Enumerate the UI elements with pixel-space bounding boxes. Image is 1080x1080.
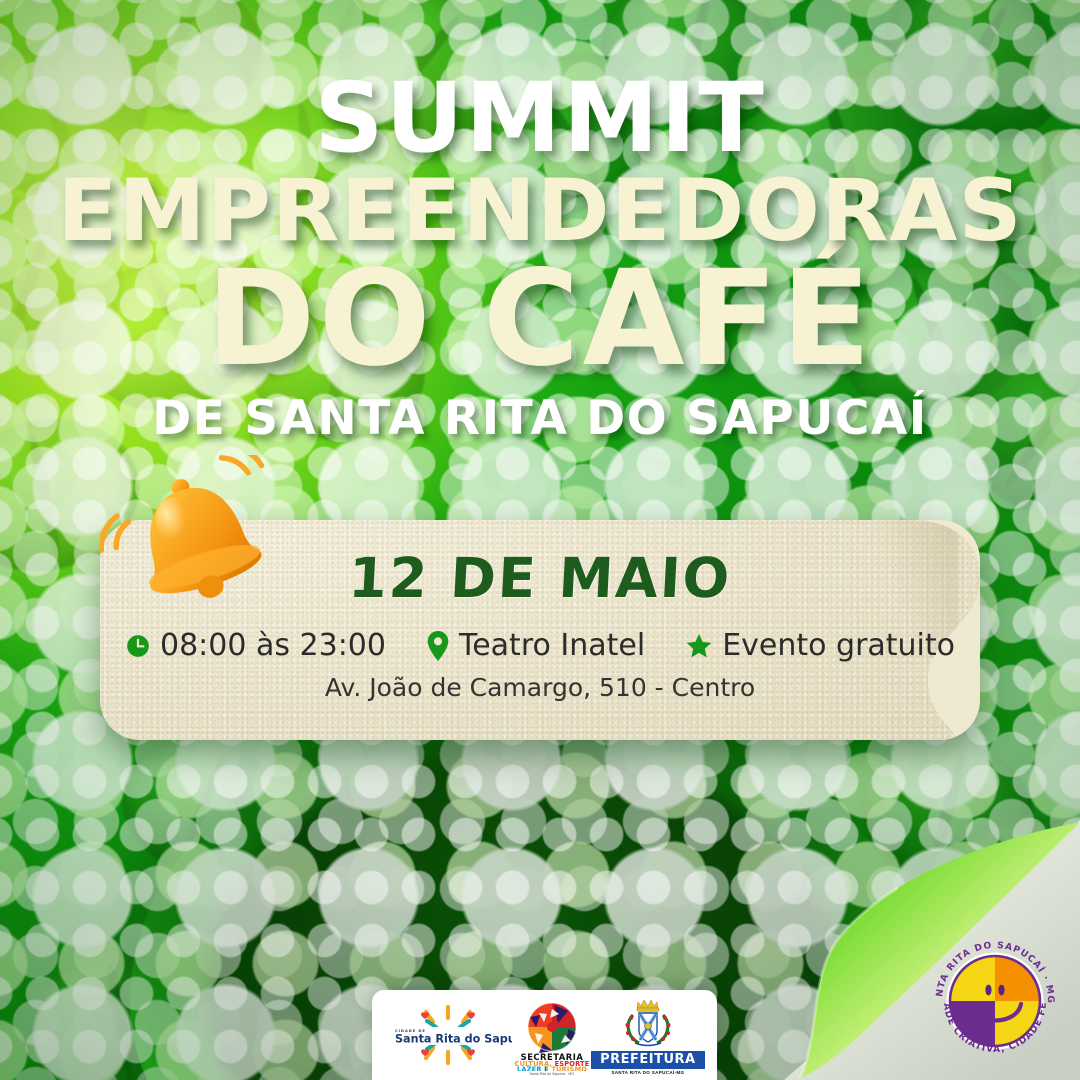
star-icon: [685, 632, 713, 660]
logo-cidade-santa-rita-do-sapucai: CIDADE DE Santa Rita do Sapucaí: [384, 1004, 512, 1066]
meta-item-venue: Teatro Inatel: [426, 628, 645, 663]
meta-item-time: 08:00 às 23:00: [125, 628, 386, 663]
event-address: Av. João de Camargo, 510 - Centro: [100, 673, 980, 702]
footer-logos: CIDADE DE Santa Rita do Sapucaí: [372, 990, 717, 1080]
title-line-empreendedoras: EMPREENDEDORAS: [0, 172, 1080, 251]
map-pin-icon: [426, 631, 450, 661]
svg-text:LAZER E TURISMO: LAZER E TURISMO: [517, 1065, 587, 1071]
logo2-line4: Santa Rita do Sapucaí - MG: [529, 1072, 574, 1076]
logo3-line-sub: SANTA RITA DO SAPUCAÍ-MG: [611, 1070, 684, 1075]
title-line-subtitle: DE SANTA RITA DO SAPUCAÍ: [0, 397, 1080, 440]
logo-secretaria-cultura-esporte-lazer-turismo: SECRETARIA CULTURA, ESPORTE LAZER E TURI…: [513, 995, 591, 1076]
logo3-line-main: PREFEITURA: [591, 1051, 705, 1069]
city-seal-badge: SANTA RITA DO SAPUCAÍ · MG · CIDADE CRIA…: [924, 930, 1066, 1072]
bell-icon: [100, 455, 290, 615]
title-line-summit: SUMMIT: [0, 74, 1080, 162]
meta-price-label: Evento gratuito: [722, 628, 955, 663]
logo1-line-main: Santa Rita do Sapucaí: [395, 1033, 512, 1046]
poster-title-block: SUMMIT EMPREENDEDORAS DO CAFÉ DE SANTA R…: [0, 74, 1080, 440]
coat-of-arms-icon: [613, 995, 683, 1051]
event-meta-row: 08:00 às 23:00 Teatro Inatel Evento grat…: [100, 628, 980, 663]
logo-prefeitura: PREFEITURA SANTA RITA DO SAPUCAÍ-MG: [591, 995, 705, 1075]
event-poster: SUMMIT EMPREENDEDORAS DO CAFÉ DE SANTA R…: [0, 0, 1080, 1080]
meta-item-price: Evento gratuito: [685, 628, 955, 663]
meta-venue-label: Teatro Inatel: [459, 628, 645, 663]
meta-time-label: 08:00 às 23:00: [160, 628, 386, 663]
logo2-lazer: LAZER: [517, 1065, 542, 1071]
logo2-turismo: TURISMO: [551, 1065, 587, 1071]
logo2-e: E: [541, 1065, 551, 1071]
title-line-do-cafe: DO CAFÉ: [0, 259, 1080, 380]
clock-icon: [125, 633, 151, 659]
